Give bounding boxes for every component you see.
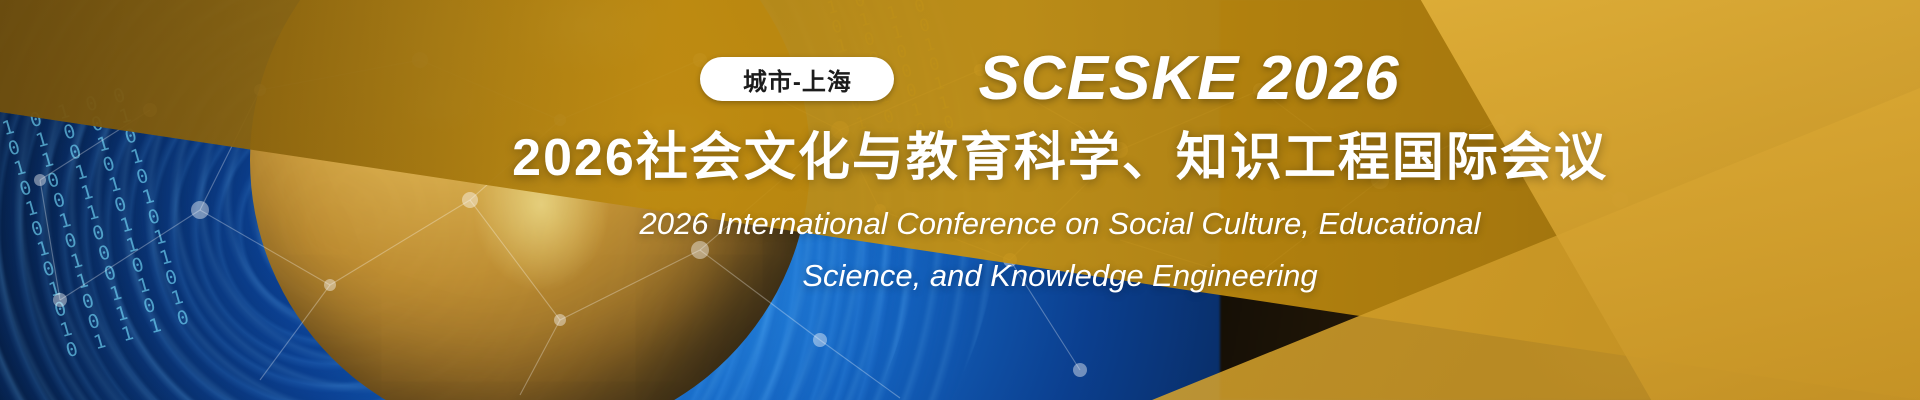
conference-banner: 1 0 1 0 0 0 1 0 0 1 1 1 0 1 0 0 0 1 0 1 …: [0, 0, 1920, 400]
banner-content: 城市-上海 SCESKE 2026 2026社会文化与教育科学、知识工程国际会议…: [0, 0, 1920, 400]
conference-title-en: 2026 International Conference on Social …: [0, 198, 1920, 302]
conference-title-cn: 2026社会文化与教育科学、知识工程国际会议: [0, 128, 1920, 188]
conference-title-en-line2: Science, and Knowledge Engineering: [200, 250, 1920, 302]
conference-acronym: SCESKE 2026: [978, 48, 1399, 110]
conference-title-en-line1: 2026 International Conference on Social …: [200, 198, 1920, 250]
title-row: 城市-上海 SCESKE 2026: [0, 48, 1920, 110]
city-badge: 城市-上海: [700, 57, 894, 101]
